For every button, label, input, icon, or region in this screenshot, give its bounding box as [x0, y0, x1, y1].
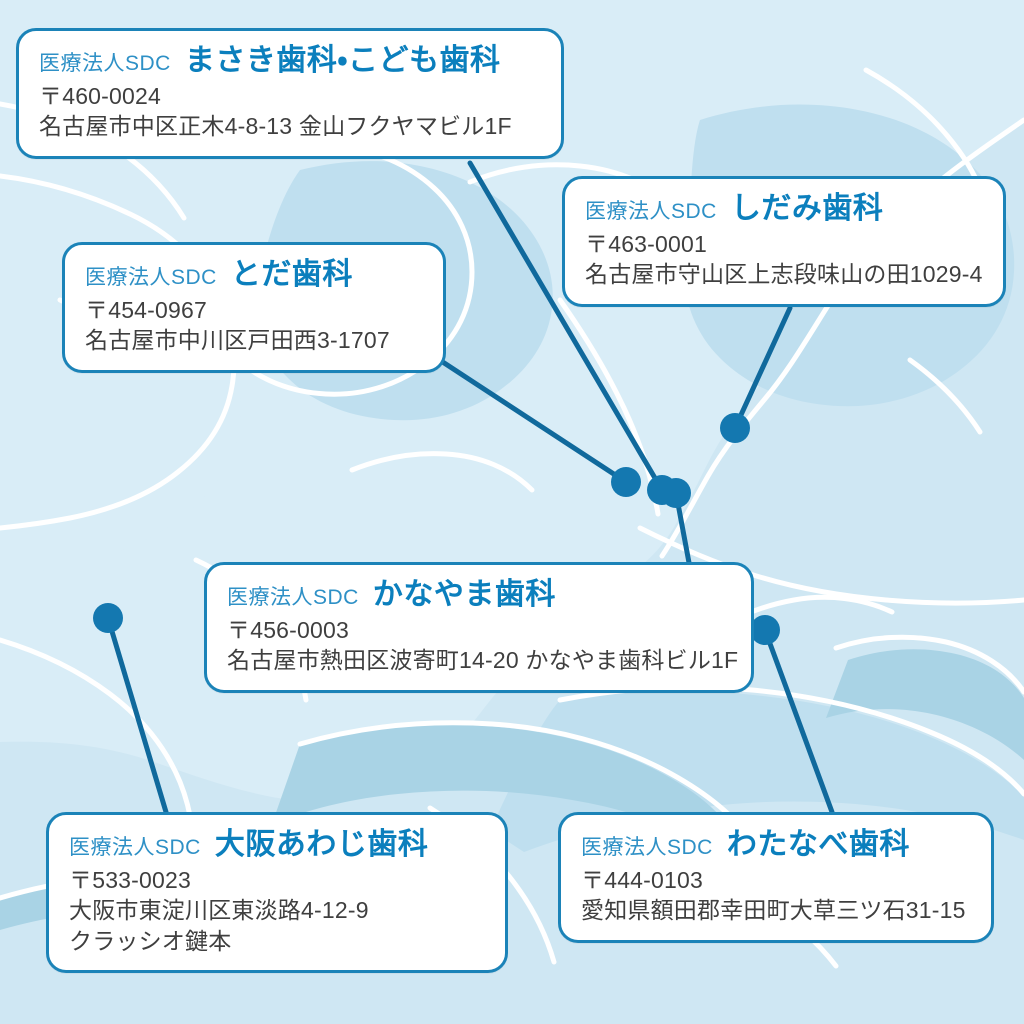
clinic-address-line1: 愛知県額田郡幸田町大草三ツ石31-15 — [581, 895, 971, 925]
clinic-postal-code: 〒444-0103 — [581, 865, 971, 895]
clinic-address-line1: 名古屋市熱田区波寄町14-20 かなやま歯科ビル1F — [227, 645, 731, 675]
clinic-card-osaka-awaji[interactable]: 医療法人SDC 大阪あわじ歯科 〒533-0023 大阪市東淀川区東淡路4-12… — [46, 812, 508, 973]
clinic-brand-label: 医療法人SDC — [227, 585, 359, 611]
clinic-location-map: 医療法人SDC まさき歯科・こども歯科 〒460-0024 名古屋市中区正木4-… — [0, 0, 1024, 1024]
clinic-brand-label: 医療法人SDC — [69, 835, 201, 861]
clinic-card-header: 医療法人SDC まさき歯科・こども歯科 — [39, 43, 541, 79]
clinic-card-header: 医療法人SDC しだみ歯科 — [585, 191, 983, 227]
clinic-postal-code: 〒460-0024 — [39, 81, 541, 111]
clinic-name-label: しだみ歯科 — [731, 191, 884, 227]
clinic-postal-code: 〒463-0001 — [585, 229, 983, 259]
clinic-card-kanayama[interactable]: 医療法人SDC かなやま歯科 〒456-0003 名古屋市熱田区波寄町14-20… — [204, 562, 754, 693]
clinic-brand-label: 医療法人SDC — [85, 265, 217, 291]
clinic-brand-label: 医療法人SDC — [39, 51, 171, 77]
clinic-name-label: 大阪あわじ歯科 — [215, 827, 429, 863]
clinic-name-label: わたなべ歯科 — [727, 827, 910, 863]
clinic-card-header: 医療法人SDC 大阪あわじ歯科 — [69, 827, 485, 863]
clinic-brand-label: 医療法人SDC — [581, 835, 713, 861]
clinic-card-shidami[interactable]: 医療法人SDC しだみ歯科 〒463-0001 名古屋市守山区上志段味山の田10… — [562, 176, 1006, 307]
clinic-postal-code: 〒533-0023 — [69, 865, 485, 895]
clinic-address-line1: 大阪市東淀川区東淡路4-12-9 — [69, 895, 485, 925]
clinic-card-header: 医療法人SDC かなやま歯科 — [227, 577, 731, 613]
clinic-card-watanabe[interactable]: 医療法人SDC わたなべ歯科 〒444-0103 愛知県額田郡幸田町大草三ツ石3… — [558, 812, 994, 943]
clinic-address-line2: クラッシオ鍵本 — [69, 926, 485, 956]
clinic-card-masaki[interactable]: 医療法人SDC まさき歯科・こども歯科 〒460-0024 名古屋市中区正木4-… — [16, 28, 564, 159]
clinic-card-header: 医療法人SDC わたなべ歯科 — [581, 827, 971, 863]
clinic-address-line1: 名古屋市中川区戸田西3-1707 — [85, 325, 423, 355]
clinic-postal-code: 〒454-0967 — [85, 295, 423, 325]
clinic-address-line1: 名古屋市中区正木4-8-13 金山フクヤマビル1F — [39, 111, 541, 141]
clinic-name-label: まさき歯科・こども歯科 — [185, 43, 501, 79]
clinic-brand-label: 医療法人SDC — [585, 199, 717, 225]
clinic-address-line1: 名古屋市守山区上志段味山の田1029-4 — [585, 259, 983, 289]
clinic-name-label: かなやま歯科 — [373, 577, 556, 613]
clinic-card-toda[interactable]: 医療法人SDC とだ歯科 〒454-0967 名古屋市中川区戸田西3-1707 — [62, 242, 446, 373]
clinic-card-header: 医療法人SDC とだ歯科 — [85, 257, 423, 293]
clinic-postal-code: 〒456-0003 — [227, 615, 731, 645]
clinic-name-label: とだ歯科 — [231, 257, 353, 293]
